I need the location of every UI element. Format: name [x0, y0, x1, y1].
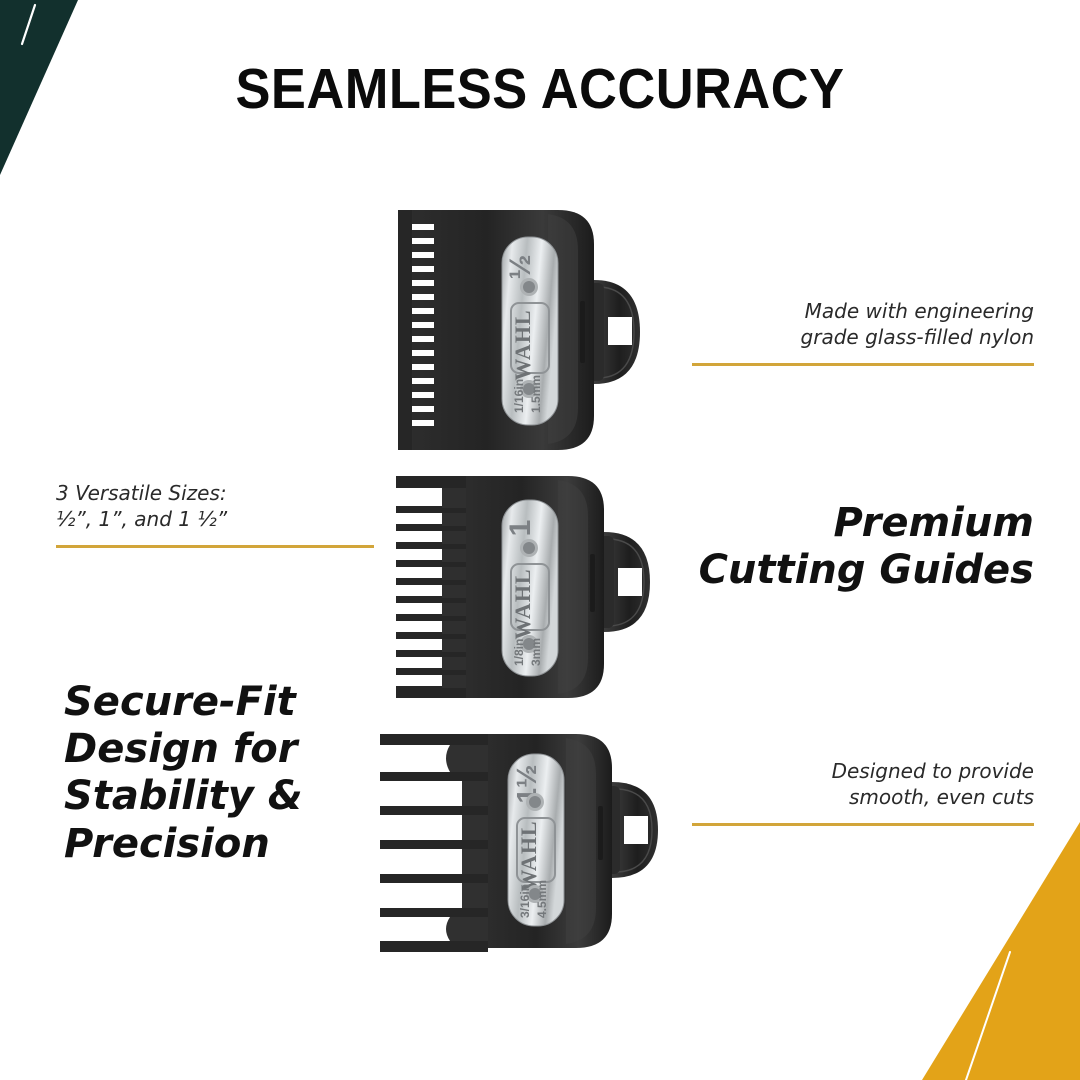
callout-nylon-text: Made with engineering grade glass-filled… — [692, 298, 1034, 350]
callout-sizes: 3 Versatile Sizes: ½”, 1”, and 1 ½” — [56, 480, 374, 548]
svg-text:1/16in: 1/16in — [512, 379, 526, 413]
svg-text:WAHL: WAHL — [510, 309, 535, 380]
svg-text:1: 1 — [504, 520, 537, 537]
product-image-comb-half-inch: ½ WAHL 1/16in 1.5mm — [398, 205, 698, 460]
page-title: SEAMLESS ACCURACY — [43, 56, 1037, 122]
svg-text:4.5mm: 4.5mm — [535, 880, 549, 918]
svg-text:3mm: 3mm — [529, 638, 543, 666]
callout-smooth-text: Designed to provide smooth, even cuts — [692, 758, 1034, 810]
svg-text:1.5mm: 1.5mm — [529, 375, 543, 413]
infographic-canvas: SEAMLESS ACCURACY — [0, 0, 1080, 1080]
callout-sizes-text: 3 Versatile Sizes: ½”, 1”, and 1 ½” — [56, 480, 374, 532]
heading-secure-fit-design: Secure-Fit Design for Stability & Precis… — [64, 679, 394, 868]
callout-sizes-rule — [56, 545, 374, 548]
callout-nylon-rule — [692, 363, 1034, 366]
svg-text:WAHL: WAHL — [510, 568, 535, 639]
callout-smooth: Designed to provide smooth, even cuts — [692, 758, 1034, 826]
heading-premium-cutting-guides: Premium Cutting Guides — [640, 500, 1034, 594]
callout-smooth-rule — [692, 823, 1034, 826]
svg-text:3/16in: 3/16in — [518, 884, 532, 918]
callout-nylon: Made with engineering grade glass-filled… — [692, 298, 1034, 366]
product-image-comb-one-and-half-inch: 1½ WAHL 3/16in 4.5mm — [372, 728, 702, 960]
gold-corner-wedge — [900, 822, 1080, 1080]
svg-text:½: ½ — [504, 254, 537, 279]
svg-text:1/8in: 1/8in — [512, 639, 526, 666]
